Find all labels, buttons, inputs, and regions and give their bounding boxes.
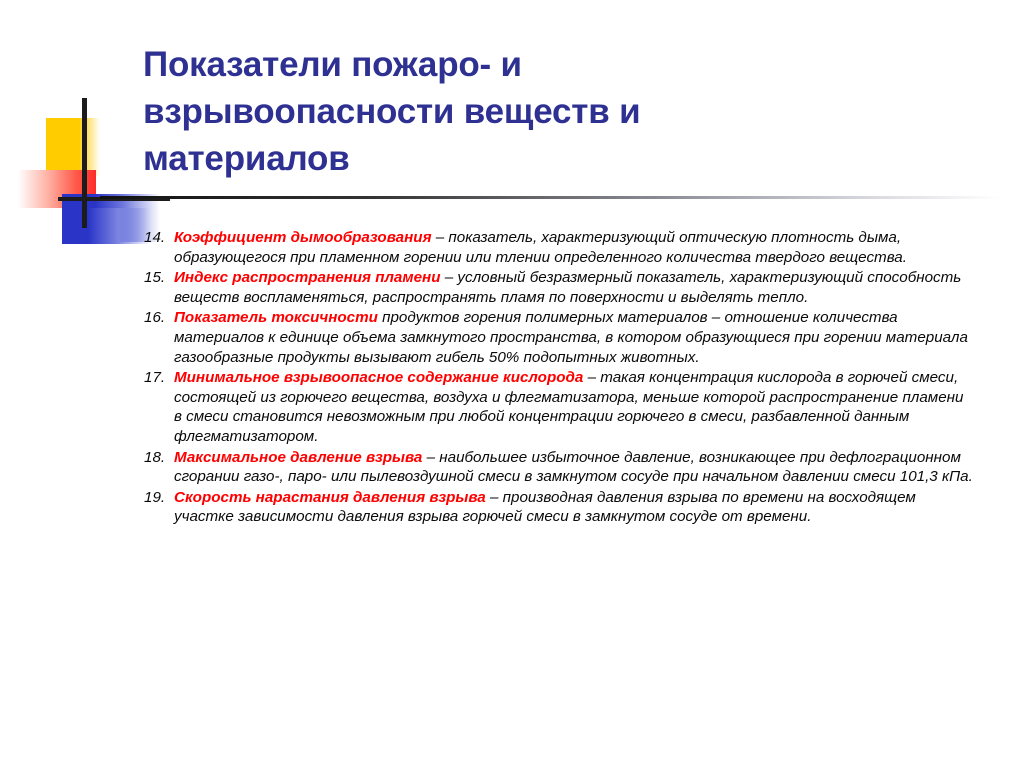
title-divider-rule (100, 196, 1000, 199)
blue-rectangle-lower-decor (62, 208, 150, 244)
list-item-number: 19. (144, 488, 170, 508)
slide-title: Показатели пожаро- и взрывоопасности вещ… (143, 41, 913, 182)
list-item-number: 14. (144, 228, 170, 248)
list-item-number: 15. (144, 268, 170, 288)
list-item-term: Скорость нарастания давления взрыва (174, 489, 486, 506)
list-item: 19.Скорость нарастания давления взрыва –… (144, 488, 974, 527)
list-item-term: Минимальное взрывоопасное содержание кис… (174, 369, 583, 386)
list-item-term: Индекс распространения пламени (174, 269, 441, 286)
list-item-number: 16. (144, 308, 170, 328)
list-item-term: Показатель токсичности (174, 309, 378, 326)
list-item: 18.Максимальное давление взрыва – наибол… (144, 448, 974, 487)
list-item-number: 17. (144, 368, 170, 388)
title-line-3: материалов (143, 135, 913, 182)
list-item: 17.Минимальное взрывоопасное содержание … (144, 368, 974, 446)
presentation-slide: Показатели пожаро- и взрывоопасности вещ… (0, 0, 1024, 767)
list-item: 14.Коэффициент дымообразования – показат… (144, 228, 974, 267)
list-item-term: Коэффициент дымообразования (174, 229, 432, 246)
title-line-1: Показатели пожаро- и (143, 41, 913, 88)
definitions-list: 14.Коэффициент дымообразования – показат… (144, 228, 974, 528)
vertical-bar-decor (82, 98, 87, 228)
list-item: 16.Показатель токсичности продуктов горе… (144, 308, 974, 367)
title-line-2: взрывоопасности веществ и (143, 88, 913, 135)
list-item: 15.Индекс распространения пламени – усло… (144, 268, 974, 307)
list-item-term: Максимальное давление взрыва (174, 449, 422, 466)
list-item-number: 18. (144, 448, 170, 468)
yellow-square-core-decor (46, 118, 80, 176)
